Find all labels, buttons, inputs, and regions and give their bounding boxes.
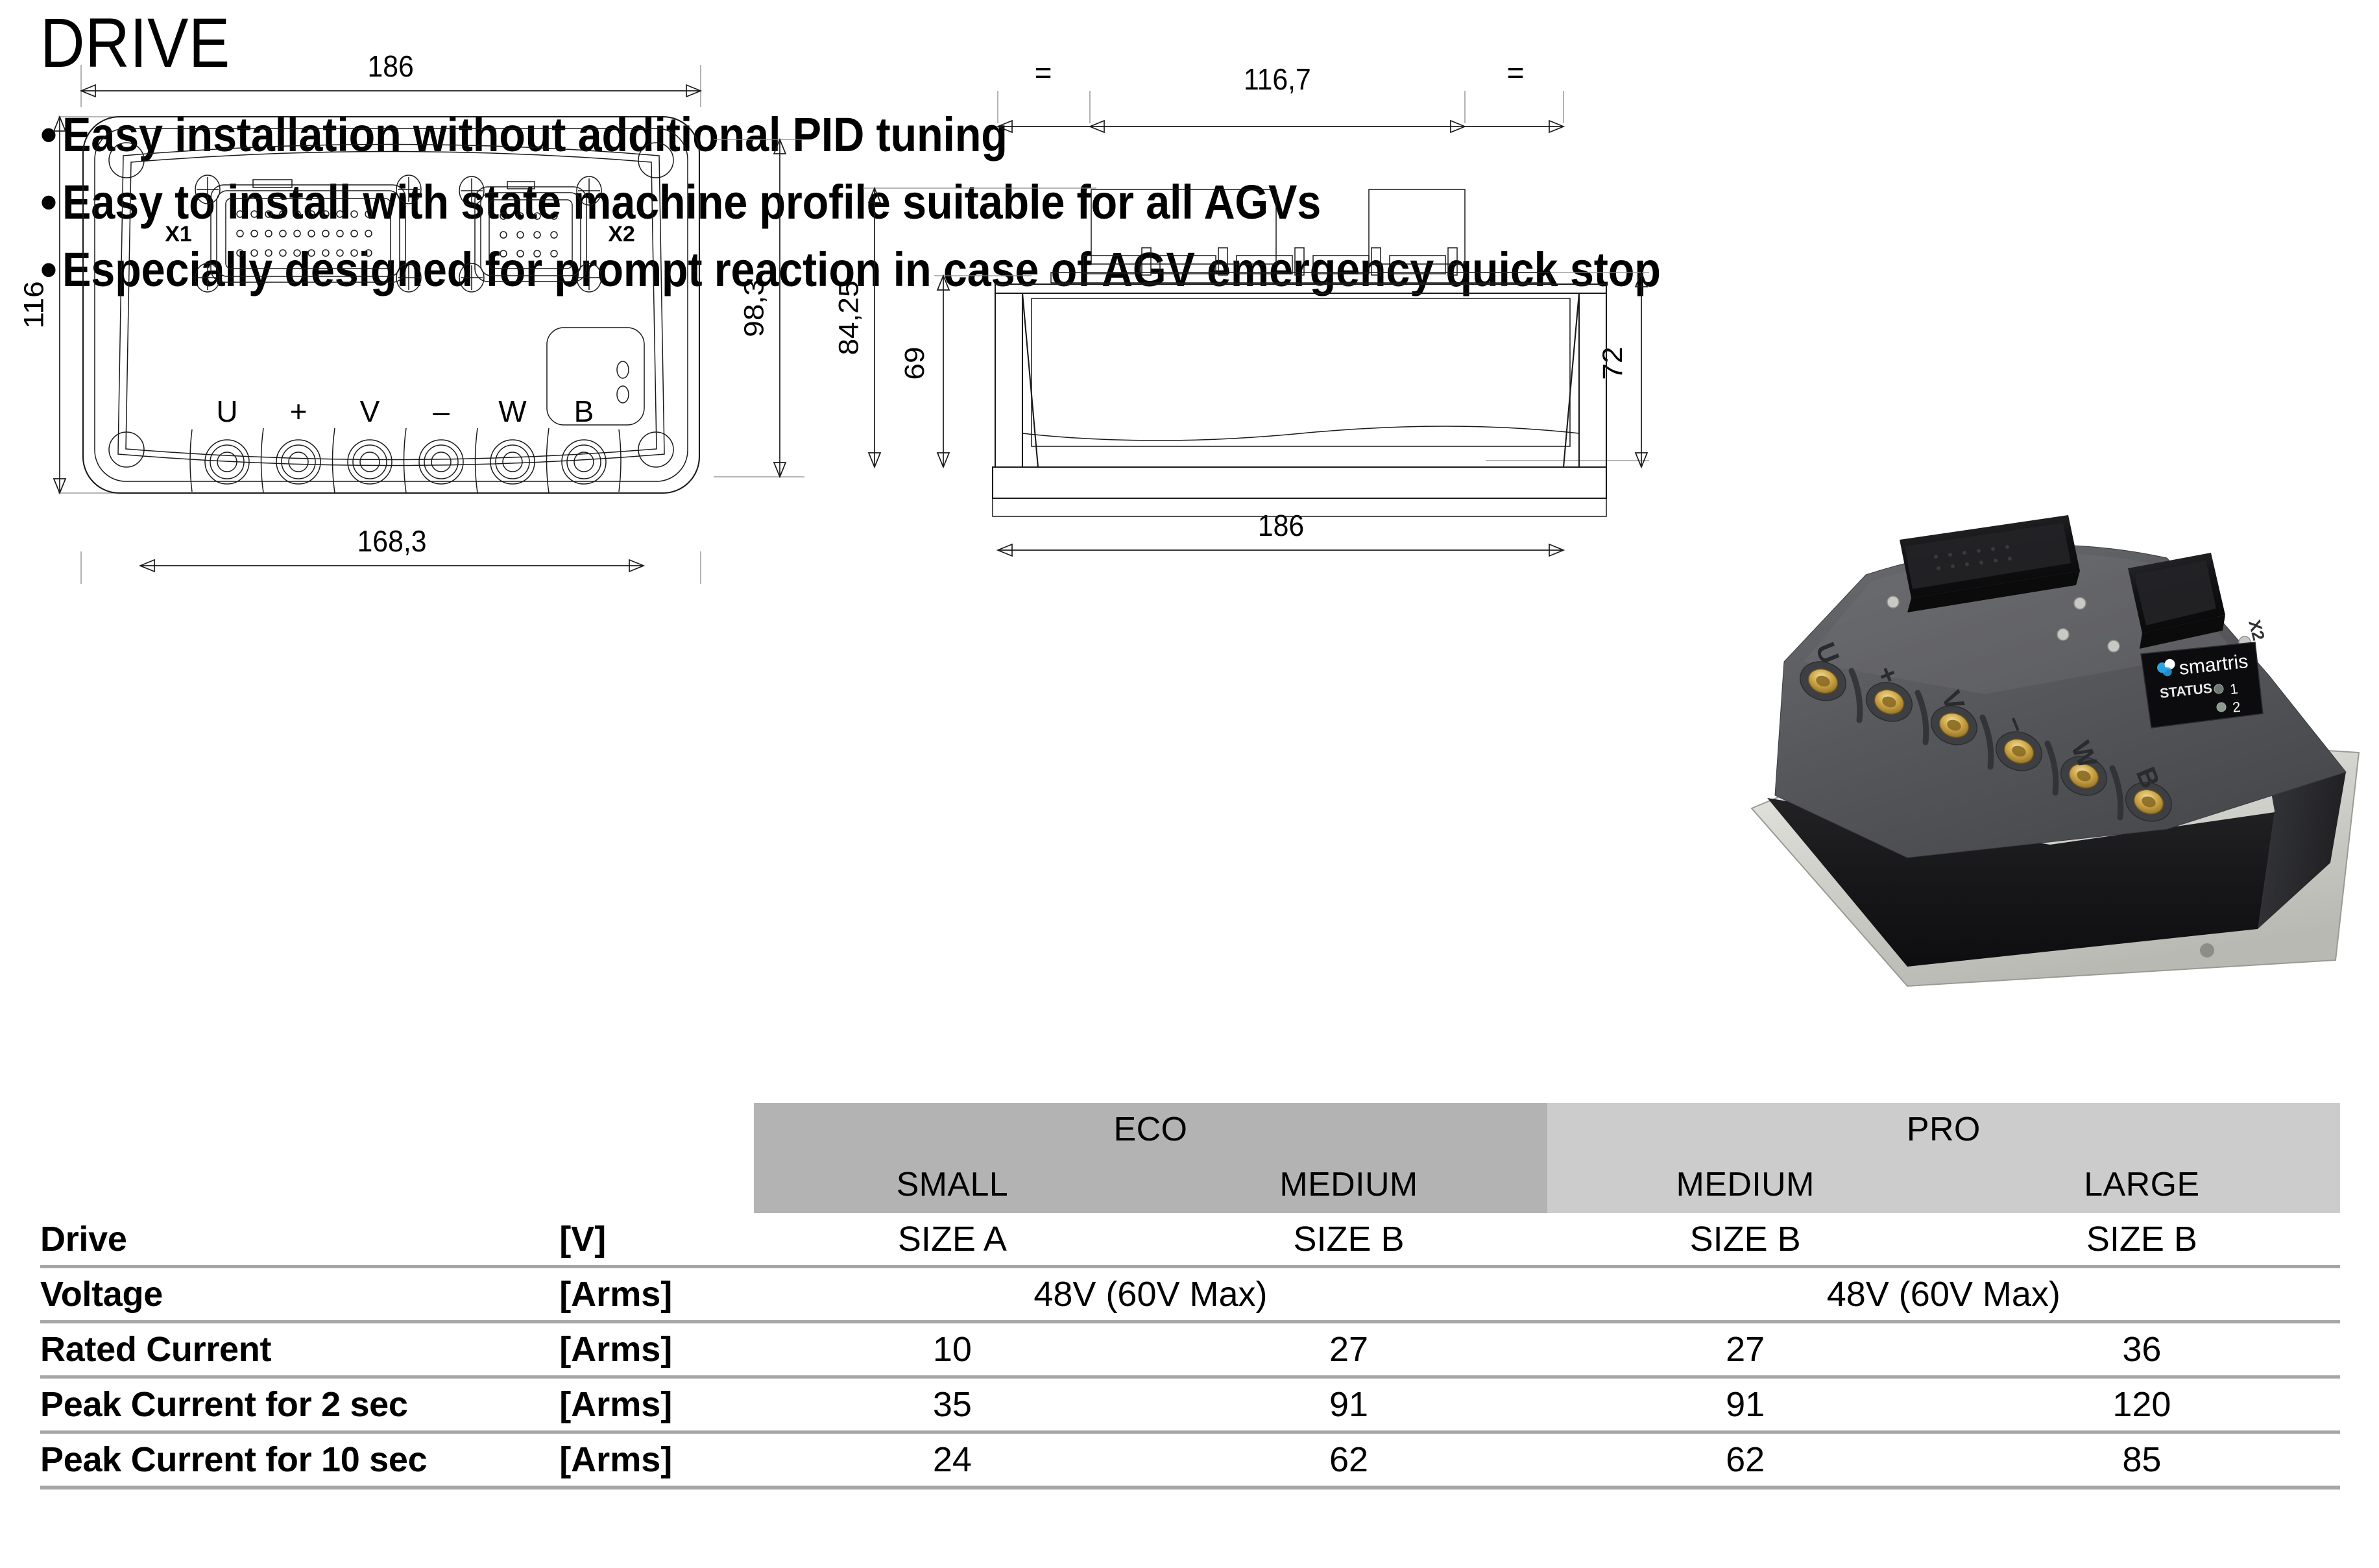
cell-rated-eco-small: 10 bbox=[754, 1322, 1150, 1377]
column-header-pro-medium: MEDIUM bbox=[1547, 1156, 1944, 1213]
cell-rated-eco-medium: 27 bbox=[1150, 1322, 1547, 1377]
status-led-2 bbox=[2217, 703, 2226, 712]
dim-total-height: 84,25 bbox=[837, 280, 864, 355]
cell-drive-pro-large: SIZE B bbox=[1944, 1213, 2340, 1267]
table-row: Peak Current for 10 sec [Arms] 24 62 62 … bbox=[40, 1432, 2340, 1488]
dim-body-height: 69 bbox=[899, 346, 930, 380]
dim-height-outer: 116 bbox=[19, 281, 49, 328]
column-header-eco-medium: MEDIUM bbox=[1150, 1156, 1547, 1213]
dim-width-outer: 186 bbox=[368, 51, 414, 84]
spacer-cell bbox=[559, 1156, 754, 1213]
svg-text:U: U bbox=[216, 394, 237, 428]
connector-x1: X1 bbox=[165, 175, 421, 292]
svg-text:–: – bbox=[433, 394, 450, 428]
terminal-row: U + V – W B bbox=[190, 394, 621, 493]
row-label-drive: Drive bbox=[40, 1213, 559, 1267]
row-unit-voltage: [Arms] bbox=[559, 1267, 754, 1322]
svg-text:V: V bbox=[360, 394, 380, 428]
cell-rated-pro-large: 36 bbox=[1944, 1322, 2340, 1377]
cell-peak2-pro-large: 120 bbox=[1944, 1377, 2340, 1432]
dim-right-height: 72 bbox=[1597, 346, 1628, 380]
equal-mark-left: = bbox=[1035, 56, 1052, 90]
dim-width-side: 186 bbox=[1258, 510, 1304, 543]
terminal-labels: U + V – W B bbox=[216, 394, 594, 428]
row-unit-drive: [V] bbox=[559, 1213, 754, 1267]
row-label-peak-10sec: Peak Current for 10 sec bbox=[40, 1432, 559, 1488]
cell-peak10-pro-medium: 62 bbox=[1547, 1432, 1944, 1488]
cell-rated-pro-medium: 27 bbox=[1547, 1322, 1944, 1377]
row-label-rated-current: Rated Current bbox=[40, 1322, 559, 1377]
status-led-1 bbox=[2214, 684, 2223, 694]
top-view-drawing: 186 168,3 116 98,3 bbox=[13, 0, 804, 584]
spec-table: ECO PRO SMALL MEDIUM MEDIUM LARGE Drive … bbox=[40, 1103, 2340, 1490]
column-header-eco-small: SMALL bbox=[754, 1156, 1150, 1213]
table-group-header-row: ECO PRO bbox=[40, 1103, 2340, 1156]
table-column-header-row: SMALL MEDIUM MEDIUM LARGE bbox=[40, 1156, 2340, 1213]
equal-mark-right: = bbox=[1507, 56, 1525, 90]
dim-connector-span: 116,7 bbox=[1244, 64, 1311, 97]
table-row: Voltage [Arms] 48V (60V Max) 48V (60V Ma… bbox=[40, 1267, 2340, 1322]
cell-peak2-pro-medium: 91 bbox=[1547, 1377, 1944, 1432]
status-led-2-label: 2 bbox=[2232, 699, 2241, 716]
connector-x1-label: X1 bbox=[165, 222, 192, 247]
spacer-cell bbox=[40, 1156, 559, 1213]
status-badge: smartris STATUS 1 2 bbox=[2141, 642, 2263, 728]
status-window bbox=[547, 328, 644, 425]
connector-x2-label: X2 bbox=[608, 222, 635, 247]
cell-peak10-eco-medium: 62 bbox=[1150, 1432, 1547, 1488]
cell-peak2-eco-small: 35 bbox=[754, 1377, 1150, 1432]
column-header-pro-large: LARGE bbox=[1944, 1156, 2340, 1213]
product-photo: X2 bbox=[1713, 448, 2379, 1019]
cell-voltage-pro: 48V (60V Max) bbox=[1547, 1267, 2340, 1322]
cell-drive-eco-medium: SIZE B bbox=[1150, 1213, 1547, 1267]
table-row: Peak Current for 2 sec [Arms] 35 91 91 1… bbox=[40, 1377, 2340, 1432]
cell-drive-eco-small: SIZE A bbox=[754, 1213, 1150, 1267]
table-row: Drive [V] SIZE A SIZE B SIZE B SIZE B bbox=[40, 1213, 2340, 1267]
spacer-cell bbox=[40, 1103, 559, 1156]
svg-text:W: W bbox=[498, 394, 527, 428]
cell-peak10-pro-large: 85 bbox=[1944, 1432, 2340, 1488]
svg-text:B: B bbox=[574, 394, 594, 428]
dim-width-inner: 168,3 bbox=[357, 525, 427, 559]
side-view-drawing: = = 116,7 186 84,25 69 72 bbox=[837, 13, 1674, 584]
row-unit-peak-10sec: [Arms] bbox=[559, 1432, 754, 1488]
table-row: Rated Current [Arms] 10 27 27 36 bbox=[40, 1322, 2340, 1377]
connector-x2: X2 bbox=[2128, 553, 2269, 649]
row-label-peak-2sec: Peak Current for 2 sec bbox=[40, 1377, 559, 1432]
technical-drawings: 186 168,3 116 98,3 bbox=[0, 0, 2379, 584]
group-header-pro: PRO bbox=[1547, 1103, 2340, 1156]
spacer-cell bbox=[559, 1103, 754, 1156]
row-unit-rated-current: [Arms] bbox=[559, 1322, 754, 1377]
cell-drive-pro-medium: SIZE B bbox=[1547, 1213, 1944, 1267]
cell-peak2-eco-medium: 91 bbox=[1150, 1377, 1547, 1432]
row-unit-peak-2sec: [Arms] bbox=[559, 1377, 754, 1432]
dim-height-inner: 98,3 bbox=[739, 279, 769, 337]
cell-voltage-eco: 48V (60V Max) bbox=[754, 1267, 1547, 1322]
svg-text:+: + bbox=[290, 394, 308, 428]
group-header-eco: ECO bbox=[754, 1103, 1547, 1156]
cell-peak10-eco-small: 24 bbox=[754, 1432, 1150, 1488]
row-label-voltage: Voltage bbox=[40, 1267, 559, 1322]
connector-x2: X2 bbox=[459, 176, 635, 292]
status-led-1-label: 1 bbox=[2229, 681, 2239, 697]
